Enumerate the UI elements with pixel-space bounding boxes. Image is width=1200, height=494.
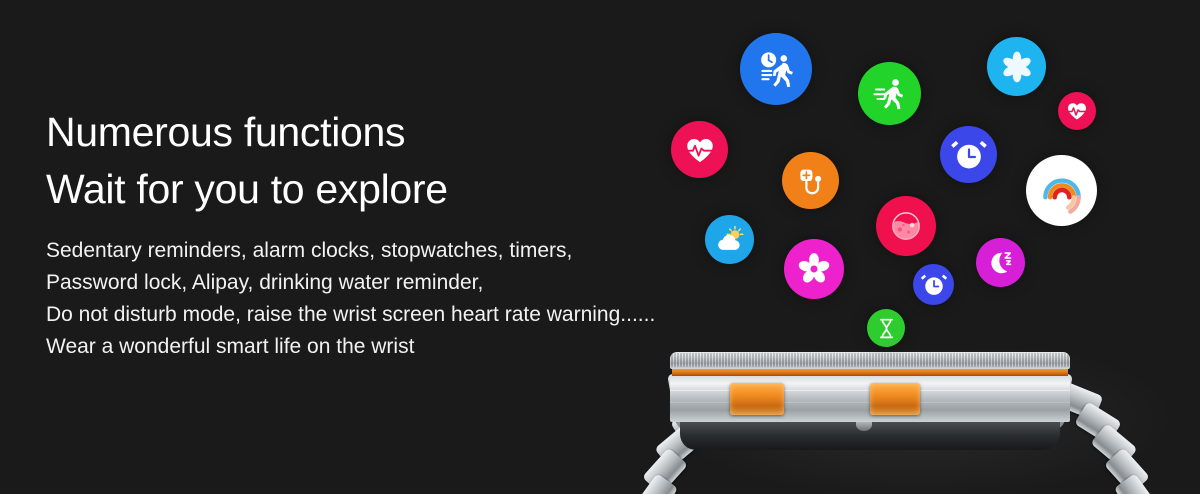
snowflake-icon[interactable] bbox=[987, 37, 1046, 96]
stethoscope-icon[interactable] bbox=[782, 152, 839, 209]
weather-icon[interactable] bbox=[705, 215, 754, 264]
alarm-clock-icon[interactable] bbox=[940, 126, 997, 183]
watch-button-bottom[interactable] bbox=[870, 383, 920, 415]
body-copy-line-3: Do not disturb mode, raise the wrist scr… bbox=[46, 299, 786, 331]
body-copy-line-1: Sedentary reminders, alarm clocks, stopw… bbox=[46, 235, 786, 267]
watch-button-top[interactable] bbox=[730, 383, 784, 415]
flower-icon[interactable] bbox=[784, 239, 844, 299]
alarm-clock-small-icon[interactable] bbox=[913, 264, 954, 305]
watch-bezel bbox=[670, 352, 1070, 369]
sleep-icon[interactable] bbox=[976, 238, 1025, 287]
activity-rings-icon[interactable] bbox=[1026, 155, 1097, 226]
watch-case bbox=[670, 352, 1070, 452]
body-copy-line-2: Password lock, Alipay, drinking water re… bbox=[46, 267, 786, 299]
promo-banner: Numerous functions Wait for you to explo… bbox=[0, 0, 1200, 494]
watch-orange-accent-ring bbox=[672, 369, 1068, 376]
watch-bezel-knurling bbox=[670, 353, 1070, 367]
heart-rate-icon[interactable] bbox=[671, 121, 728, 178]
heart-rate-small-icon[interactable] bbox=[1058, 92, 1096, 130]
hourglass-timer-icon[interactable] bbox=[867, 309, 905, 347]
smartwatch-side-profile bbox=[636, 336, 1200, 494]
headline-line-2: Wait for you to explore bbox=[46, 161, 786, 218]
blood-cell-icon[interactable] bbox=[876, 196, 936, 256]
running-icon[interactable] bbox=[858, 62, 921, 125]
sedentary-reminder-icon[interactable] bbox=[740, 33, 812, 105]
